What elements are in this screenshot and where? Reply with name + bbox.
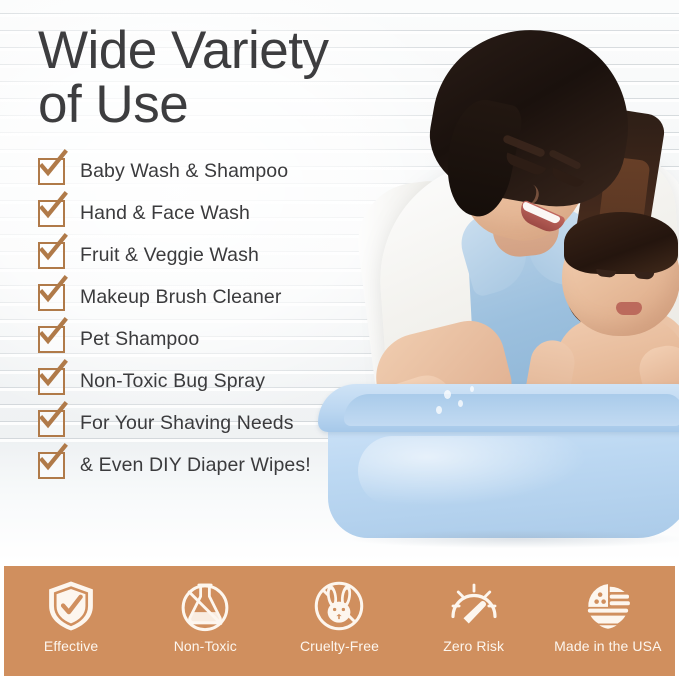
blue-bathtub <box>318 384 679 544</box>
badge-bar-inner: Effective Non-Toxic <box>4 566 675 676</box>
flask-no-symbol-icon <box>177 578 233 634</box>
checkbox-checked-icon <box>38 410 65 437</box>
badge-label: Cruelty-Free <box>300 639 379 655</box>
list-item-label: For Your Shaving Needs <box>80 412 294 435</box>
checkbox-checked-icon <box>38 326 65 353</box>
water-droplet <box>444 390 451 399</box>
checkbox-checked-icon <box>38 284 65 311</box>
bathtub-shadow <box>352 530 679 548</box>
checkbox-checked-icon <box>38 368 65 395</box>
badge-label: Effective <box>44 639 98 655</box>
badge-made-in-usa: Made in the USA <box>549 578 667 655</box>
bathtub-interior <box>344 394 679 426</box>
list-item-label: Makeup Brush Cleaner <box>80 286 281 309</box>
badge-label: Zero Risk <box>443 639 504 655</box>
list-item: Hand & Face Wash <box>38 192 368 234</box>
badge-zero-risk: Zero Risk <box>415 578 533 655</box>
badge-label: Made in the USA <box>554 639 661 655</box>
badge-cruelty-free: Cruelty-Free <box>280 578 398 655</box>
headline-line-1: Wide Variety <box>38 24 398 78</box>
badge-label: Non-Toxic <box>174 639 237 655</box>
speedometer-gauge-icon <box>446 578 502 634</box>
badge-effective: Effective <box>12 578 130 655</box>
list-item: Fruit & Veggie Wash <box>38 234 368 276</box>
bathtub-highlight <box>358 436 588 506</box>
badge-non-toxic: Non-Toxic <box>146 578 264 655</box>
checkbox-checked-icon <box>38 452 65 479</box>
use-cases-checklist: Baby Wash & Shampoo Hand & Face Wash Fru… <box>38 150 368 486</box>
promo-image-canvas: Wide Variety of Use Baby Wash & Shampoo … <box>0 0 679 679</box>
list-item: Baby Wash & Shampoo <box>38 150 368 192</box>
page-title: Wide Variety of Use <box>38 24 398 132</box>
water-droplet <box>470 386 474 392</box>
checkbox-checked-icon <box>38 242 65 269</box>
checkbox-checked-icon <box>38 200 65 227</box>
water-droplet <box>436 406 442 414</box>
water-droplet <box>458 400 463 407</box>
baby-hair <box>564 212 678 274</box>
shield-check-icon <box>43 578 99 634</box>
list-item: Makeup Brush Cleaner <box>38 276 368 318</box>
list-item-label: Hand & Face Wash <box>80 202 250 225</box>
list-item-label: Pet Shampoo <box>80 328 199 351</box>
list-item-label: Fruit & Veggie Wash <box>80 244 259 267</box>
list-item: Pet Shampoo <box>38 318 368 360</box>
list-item: For Your Shaving Needs <box>38 402 368 444</box>
usa-flag-circle-icon <box>580 578 636 634</box>
list-item-label: Non-Toxic Bug Spray <box>80 370 265 393</box>
list-item: & Even DIY Diaper Wipes! <box>38 444 368 486</box>
checkbox-checked-icon <box>38 158 65 185</box>
rabbit-no-symbol-icon <box>311 578 367 634</box>
trust-badge-bar: Effective Non-Toxic <box>0 562 679 679</box>
list-item: Non-Toxic Bug Spray <box>38 360 368 402</box>
list-item-label: & Even DIY Diaper Wipes! <box>80 454 311 477</box>
headline-line-2: of Use <box>38 78 398 132</box>
list-item-label: Baby Wash & Shampoo <box>80 160 288 183</box>
baby-mouth <box>616 302 642 315</box>
